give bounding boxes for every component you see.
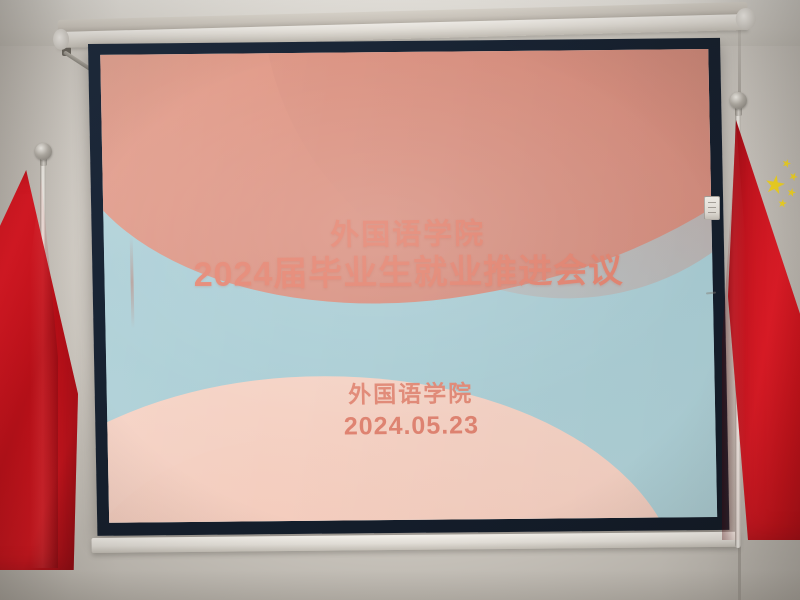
slide-title-line-1: 外国语学院: [193, 218, 623, 253]
slide-text-layer: 外国语学院 2024届毕业生就业推进会议 外国语学院 2024.05.23: [100, 49, 717, 523]
slide-title-block: 外国语学院 2024届毕业生就业推进会议: [193, 218, 624, 294]
presentation-slide: 外国语学院 2024届毕业生就业推进会议 外国语学院 2024.05.23: [100, 49, 717, 523]
wall-switch-line-2: [708, 207, 716, 208]
flagpole-finial-left: [35, 143, 52, 160]
wall-switch-panel[interactable]: [704, 196, 720, 220]
slide-title-line-2: 2024届毕业生就业推进会议: [193, 253, 623, 294]
slide-footer-organization: 外国语学院: [343, 379, 479, 408]
slide-footer-block: 外国语学院 2024.05.23: [343, 379, 479, 442]
wall-switch-line-1: [708, 202, 716, 203]
screen-projection-surface: 外国语学院 2024届毕业生就业推进会议 外国语学院 2024.05.23: [100, 49, 717, 523]
slide-footer-date: 2024.05.23: [344, 410, 480, 442]
projection-screen: 外国语学院 2024届毕业生就业推进会议 外国语学院 2024.05.23: [88, 38, 729, 536]
room-scene: 外国语学院 2024届毕业生就业推进会议 外国语学院 2024.05.23: [0, 0, 800, 600]
floor-shadow: [0, 570, 800, 600]
wall-switch-line-3: [708, 212, 716, 213]
flagpole-finial-right: [730, 92, 747, 109]
